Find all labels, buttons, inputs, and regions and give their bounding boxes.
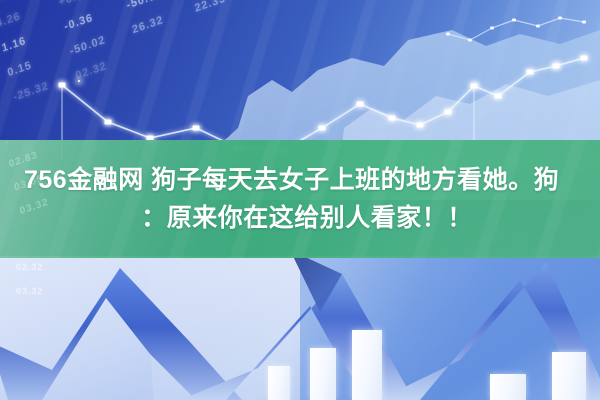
chart-node-marker — [468, 39, 472, 42]
chart-bar — [310, 348, 336, 400]
chart-node-marker — [582, 21, 586, 24]
chart-line — [448, 18, 584, 40]
chart-node-marker — [105, 120, 112, 125]
chart-node-marker — [581, 56, 588, 61]
chart-bar — [352, 330, 382, 400]
chart-node-marker — [193, 126, 200, 131]
lower-ticker-value: 02.32 — [16, 262, 44, 272]
chart-node-marker — [490, 27, 494, 30]
chart-node-marker — [417, 123, 424, 128]
headline-block: 756金融网 狗子每天去女子上班的地方看她。狗 ：原来你在这给别人看家！！ — [0, 140, 600, 258]
chart-node-marker — [495, 94, 502, 99]
chart-node-marker — [446, 33, 450, 36]
sparkle-icon — [78, 80, 80, 82]
chart-node-marker — [558, 17, 562, 20]
chart-node-marker — [527, 70, 534, 75]
chart-node-marker — [389, 116, 396, 121]
headline-line-1: 756金融网 狗子每天去女子上班的地方看她。狗 — [18, 161, 582, 199]
chart-node-marker — [536, 25, 540, 28]
chart-line — [62, 58, 584, 150]
sparkle-icon — [474, 84, 476, 86]
banner-image: -08.35+45.0221.36-11.25-02.354.362.26-00… — [0, 0, 600, 400]
headline-line-2: ：原来你在这给别人看家！！ — [18, 199, 582, 237]
chart-bar — [552, 352, 586, 400]
sparkle-icon — [556, 64, 558, 66]
chart-node-marker — [512, 19, 516, 22]
chart-bar — [268, 366, 290, 400]
chart-node-marker — [319, 126, 326, 131]
chart-bar — [490, 374, 526, 400]
chart-node-marker — [445, 110, 452, 115]
lower-ticker-value: 03.32 — [16, 286, 44, 296]
chart-node-marker — [357, 102, 364, 107]
